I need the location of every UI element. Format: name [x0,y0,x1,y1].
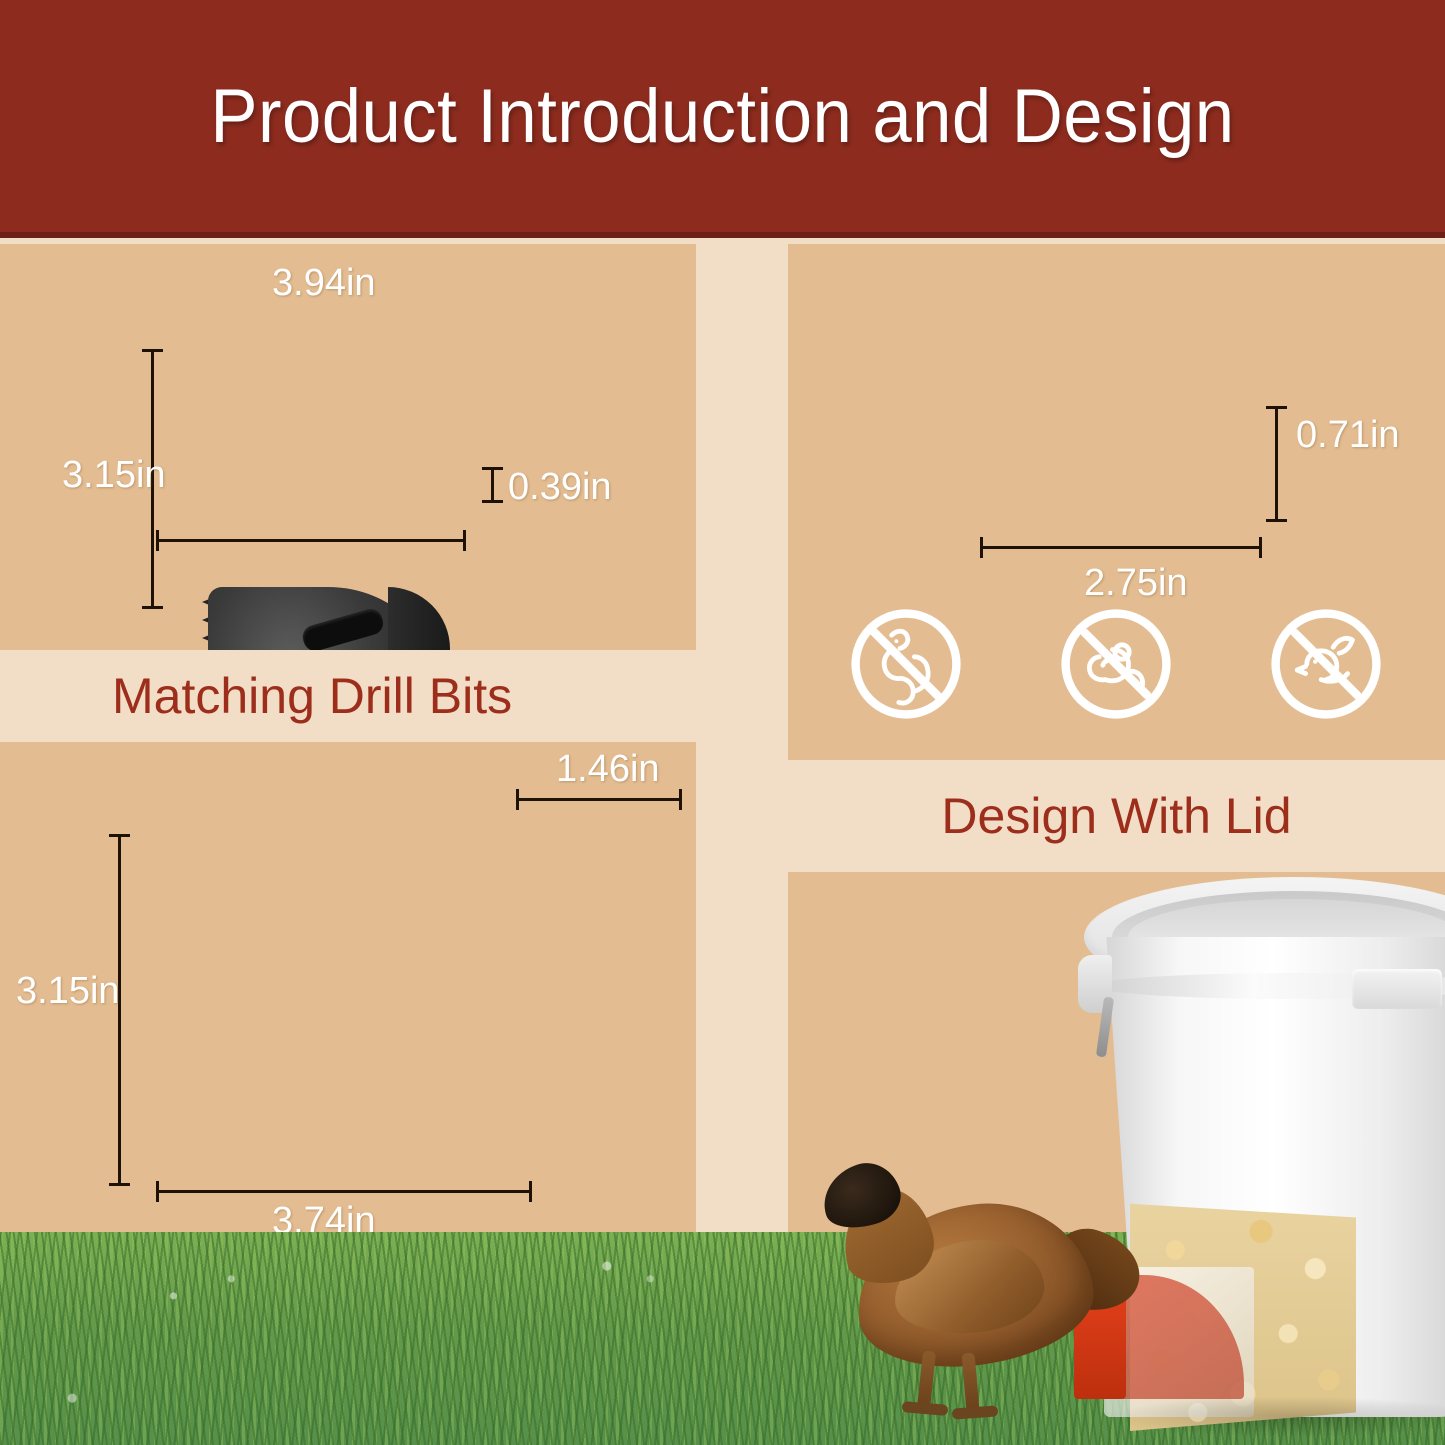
dim-label-shank: 0.39in [508,466,612,509]
dim-line-lid-diameter [980,546,1262,549]
no-bird-icon [1266,604,1386,724]
dim-label-lid-height: 0.71in [1296,414,1400,457]
dim-label-port-height: 3.15in [16,970,120,1013]
hen-foot-right [952,1405,999,1419]
dim-label-port-width: 3.74in [272,1200,376,1232]
header-bottom-rule [0,232,1445,238]
dim-line-lid-height [1275,406,1278,522]
dim-label-lid-diameter: 2.75in [1084,562,1188,605]
dim-label-drill-width: 3.94in [272,262,376,305]
infographic-canvas: Product Introduction and Design 3.94in [0,0,1445,1445]
page-title: Product Introduction and Design [51,0,1395,232]
panel-drill-bit: 3.94in 3.15in 0.39in [0,244,696,650]
dim-line-shank [491,467,494,503]
dim-line-port-width [156,1190,532,1193]
brown-hen [820,1163,1150,1433]
saw-cap [388,587,450,650]
dim-label-drill-height: 3.15in [62,454,166,497]
caption-lid: Design With Lid [788,760,1445,872]
panel-feeder-port: 1.46in 3.15in 3.74in [0,742,696,1232]
pest-proof-icon-row [846,604,1386,724]
bucket-ground-shadow [1108,1397,1445,1437]
dim-label-port-depth: 1.46in [556,748,660,791]
caption-drill-bit: Matching Drill Bits [0,650,808,742]
hen-foot-left [902,1401,949,1416]
no-squirrel-icon [846,604,966,724]
dim-line-drill-width [156,539,466,542]
no-rat-icon [1056,604,1176,724]
hole-saw-drill-bit-image [150,587,480,650]
bucket-handle-tab [1352,969,1442,1009]
dim-line-port-depth [516,798,682,801]
